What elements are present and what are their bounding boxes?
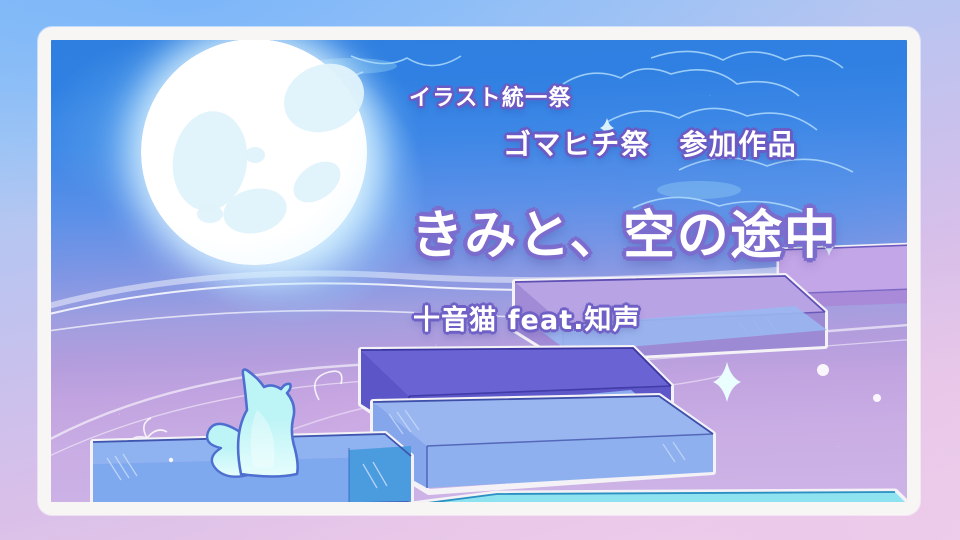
sparkle-dot: [169, 133, 881, 462]
sparkle-layer: [51, 40, 907, 502]
illustration-canvas: イラスト統一祭 ゴマヒチ祭 参加作品 きみと、空の途中 十音猫 feat.知声: [0, 0, 960, 540]
artwork-area: イラスト統一祭 ゴマヒチ祭 参加作品 きみと、空の途中 十音猫 feat.知声: [51, 40, 907, 502]
white-picture-frame: イラスト統一祭 ゴマヒチ祭 参加作品 きみと、空の途中 十音猫 feat.知声: [38, 27, 920, 515]
sparkle-icon: [600, 118, 836, 402]
